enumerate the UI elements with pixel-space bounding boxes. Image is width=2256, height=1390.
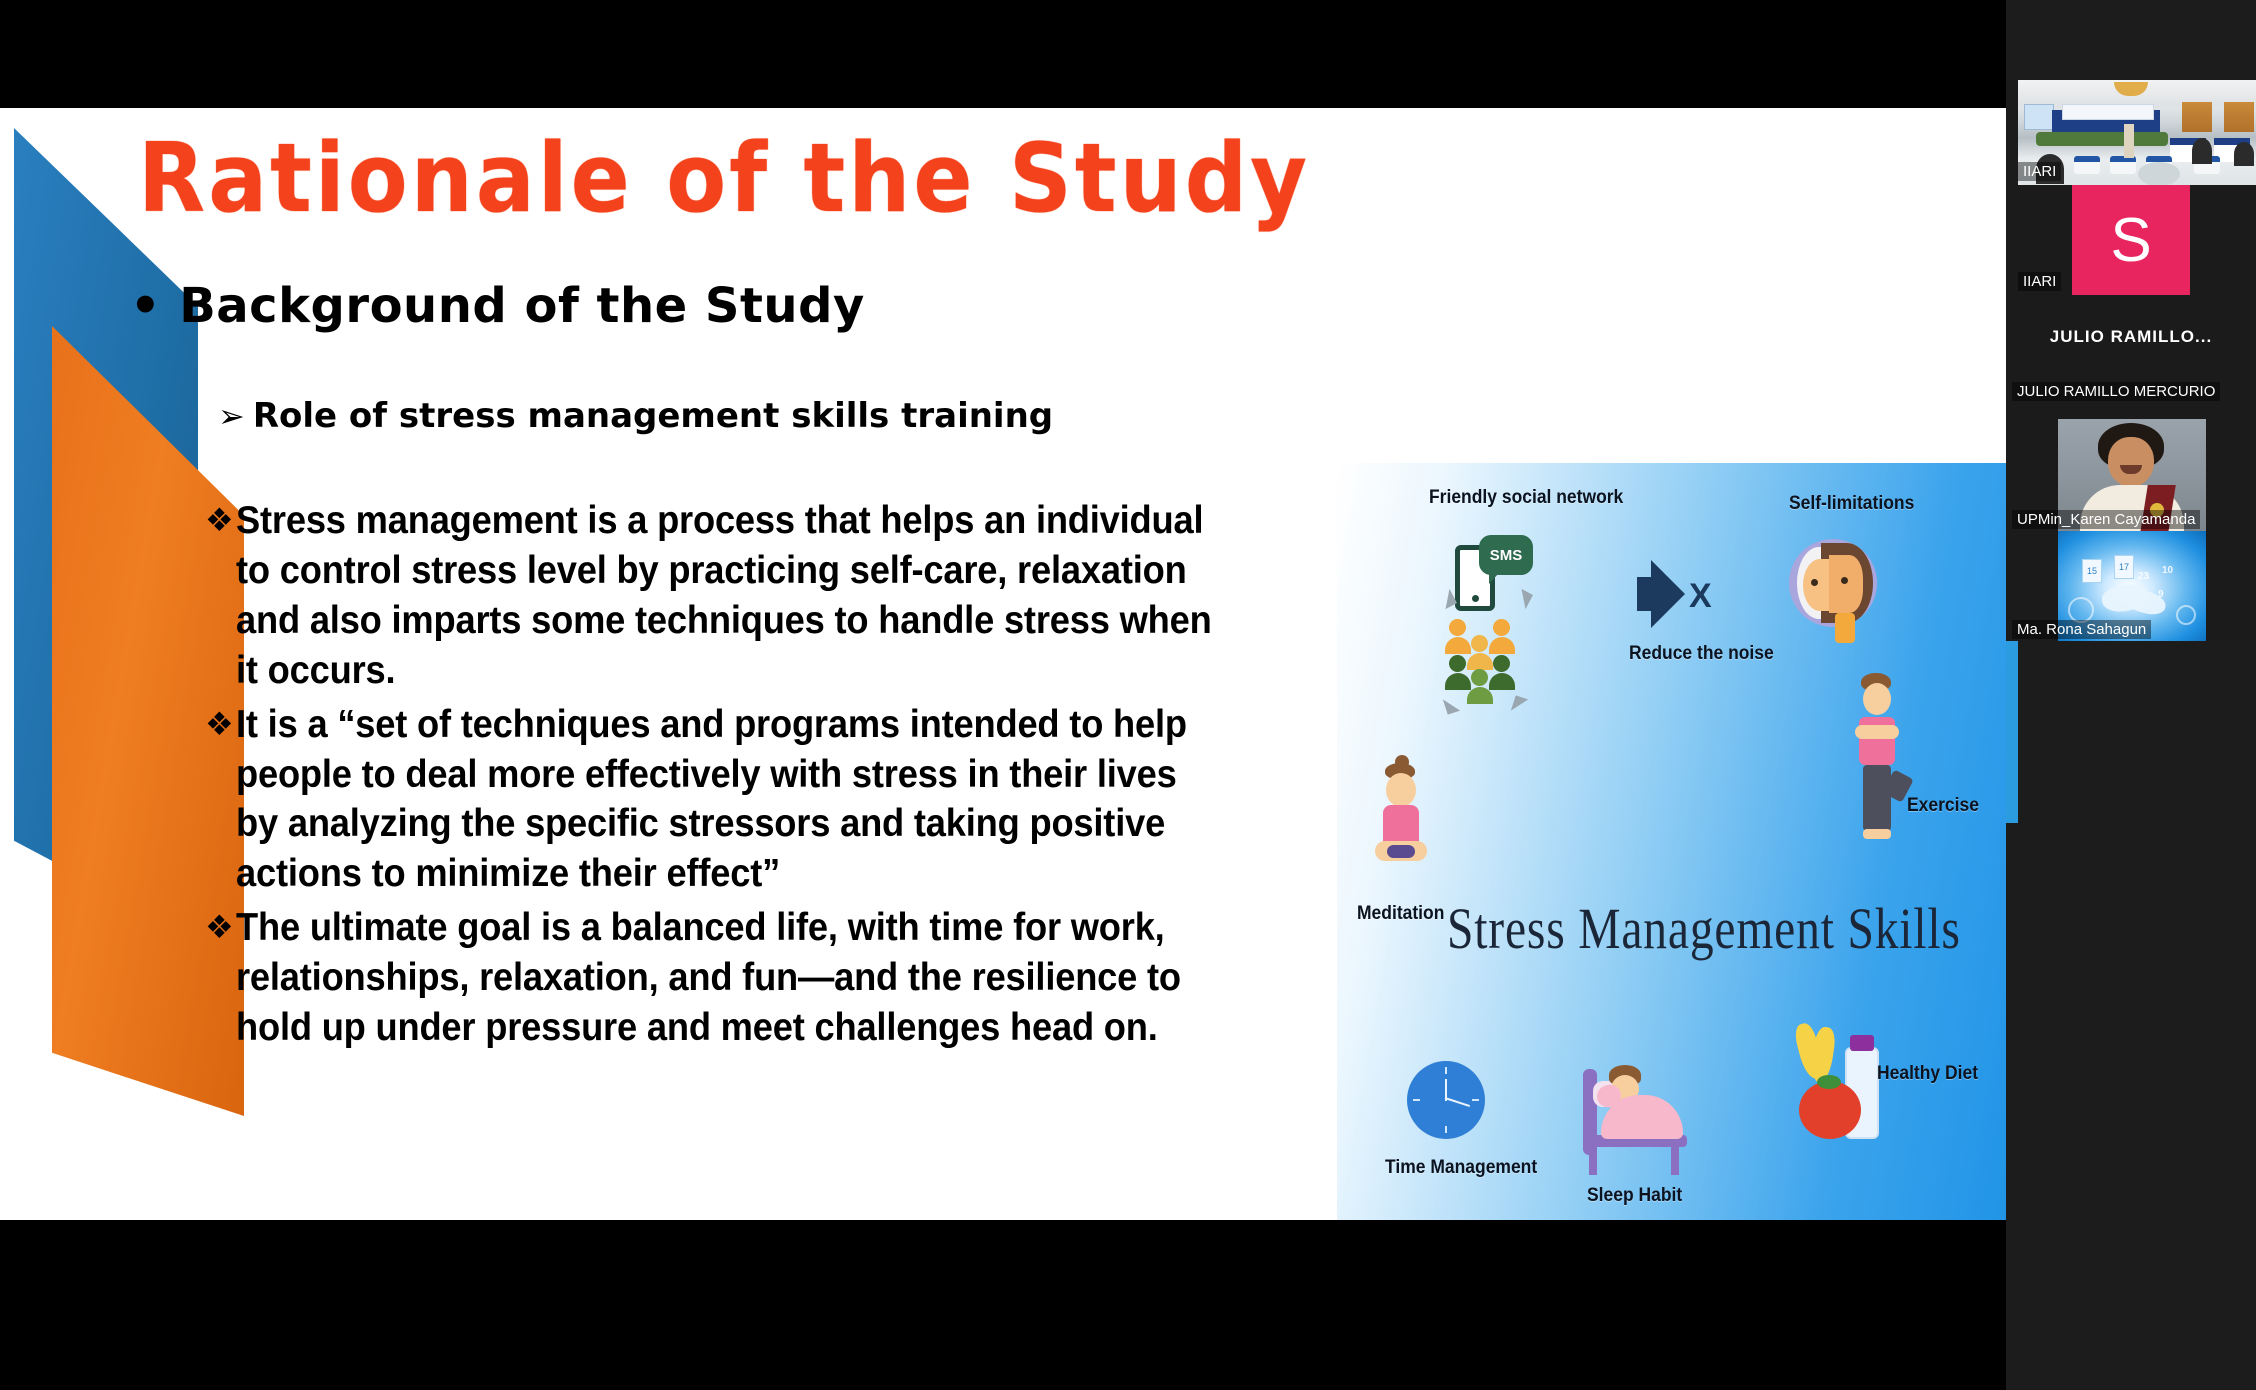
label-exercise: Exercise xyxy=(1907,795,1979,817)
body-paragraph: ❖ The ultimate goal is a balanced life, … xyxy=(205,903,1295,1053)
participant-tile[interactable]: S IIARI xyxy=(2006,185,2256,295)
faces-circle-icon xyxy=(1789,539,1877,627)
label-reduce-the-noise: Reduce the noise xyxy=(1629,643,1774,665)
arrow-icon xyxy=(1443,695,1460,714)
number-card: 15 xyxy=(2082,559,2102,583)
label-sleep-habit: Sleep Habit xyxy=(1587,1185,1682,1207)
body-paragraph: ❖ Stress management is a process that he… xyxy=(205,496,1295,696)
body-paragraph-text: Stress management is a process that help… xyxy=(236,496,1221,696)
participant-name: IIARI xyxy=(2018,272,2061,291)
avatar-letter: S xyxy=(2110,205,2151,276)
clock-icon xyxy=(1407,1061,1485,1139)
label-healthy-diet: Healthy Diet xyxy=(1877,1063,1978,1085)
infographic-center-title: Stress Management Skills xyxy=(1447,895,1961,962)
participant-display-name: JULIO RAMILLO... xyxy=(2006,327,2256,347)
level2-bullet-text: Role of stress management skills trainin… xyxy=(253,396,1053,436)
level1-bullet: •Background of the Study xyxy=(130,278,865,334)
screen-share-window: Rationale of the Study •Background of th… xyxy=(0,0,2256,1390)
participant-name: UPMin_Karen Cayamanda xyxy=(2012,510,2200,529)
participant-name: IIARI xyxy=(2018,162,2061,181)
diamond-bullet-icon: ❖ xyxy=(205,700,234,746)
label-meditation: Meditation xyxy=(1357,903,1444,925)
diamond-bullet-icon: ❖ xyxy=(205,903,234,949)
shoulder-shape xyxy=(1835,613,1855,643)
participant-name: Ma. Rona Sahagun xyxy=(2012,620,2151,639)
level2-bullet: ➢Role of stress management skills traini… xyxy=(218,396,1053,436)
participant-tile[interactable]: UPMin_Karen Cayamanda xyxy=(2006,405,2256,531)
float-number: 23 xyxy=(2138,571,2149,582)
participant-tile[interactable]: IIARI xyxy=(2006,80,2256,185)
body-paragraph: ❖ It is a “set of techniques and program… xyxy=(205,700,1295,900)
number-card: 17 xyxy=(2114,555,2134,579)
slide-title: Rationale of the Study xyxy=(138,130,1310,230)
sms-badge: SMS xyxy=(1479,535,1533,575)
slide-body-list: ❖ Stress management is a process that he… xyxy=(205,496,1295,1057)
level1-bullet-text: Background of the Study xyxy=(179,278,865,334)
arrow-icon xyxy=(1514,589,1533,609)
participant-tile[interactable]: 15 17 23 10 9 Ma. Rona Sahagun xyxy=(2006,531,2256,641)
arrow-bullet-icon: ➢ xyxy=(218,397,245,435)
label-self-limitations: Self-limitations xyxy=(1789,493,1914,515)
float-number: 10 xyxy=(2162,565,2173,576)
participants-panel: IIARI S IIARI JULIO RAMILLO... JULIO RAM… xyxy=(2006,0,2256,1390)
diamond-bullet-icon: ❖ xyxy=(205,496,234,542)
participant-tile[interactable]: JULIO RAMILLO... JULIO RAMILLO MERCURIO xyxy=(2006,295,2256,405)
label-friendly-social-network: Friendly social network xyxy=(1429,487,1623,509)
body-paragraph-text: The ultimate goal is a balanced life, wi… xyxy=(236,903,1221,1053)
arrow-icon xyxy=(1511,695,1528,714)
body-paragraph-text: It is a “set of techniques and programs … xyxy=(236,700,1221,900)
presentation-slide: Rationale of the Study •Background of th… xyxy=(0,108,2006,1220)
label-time-management: Time Management xyxy=(1385,1157,1537,1179)
bullet-dot-icon: • xyxy=(130,278,161,334)
avatar: S xyxy=(2072,185,2190,295)
stress-management-infographic: SMS X xyxy=(1337,463,2006,1220)
participant-name: JULIO RAMILLO MERCURIO xyxy=(2012,382,2220,401)
